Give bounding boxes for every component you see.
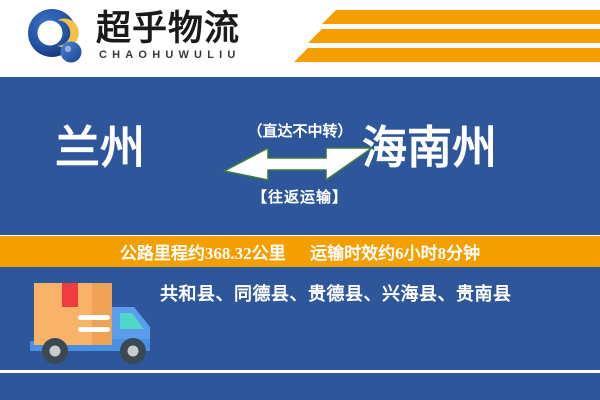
logistics-route-banner: 超乎物流 CHAOHUWULIU 兰州 海南州 （直达不中转） 【往返运输】 公… — [0, 0, 600, 400]
roundtrip-note: 【往返运输】 — [0, 186, 600, 207]
circle-crescent-logo-icon — [27, 8, 85, 66]
brand-name: 超乎物流 — [96, 9, 240, 49]
speed-stripes-icon — [290, 8, 600, 66]
stats-bar: 公路里程约368.32公里 运输时效约6小时8分钟 — [0, 236, 600, 267]
brand-pinyin: CHAOHUWULIU — [99, 49, 241, 61]
direct-service-note: （直达不中转） — [0, 120, 600, 141]
road-line — [0, 370, 600, 373]
distance-value: 公路里程约368.32公里 — [120, 244, 286, 263]
bidirectional-arrow-icon — [222, 146, 374, 182]
banner-header: 超乎物流 CHAOHUWULIU — [0, 0, 600, 72]
delivery-truck-icon — [24, 277, 160, 373]
duration-value: 运输时效约6小时8分钟 — [310, 244, 480, 263]
stats-line: 公路里程约368.32公里 运输时效约6小时8分钟 — [120, 239, 480, 264]
coverage-areas: 共和县、同德县、贵德县、兴海县、贵南县 — [160, 280, 512, 306]
